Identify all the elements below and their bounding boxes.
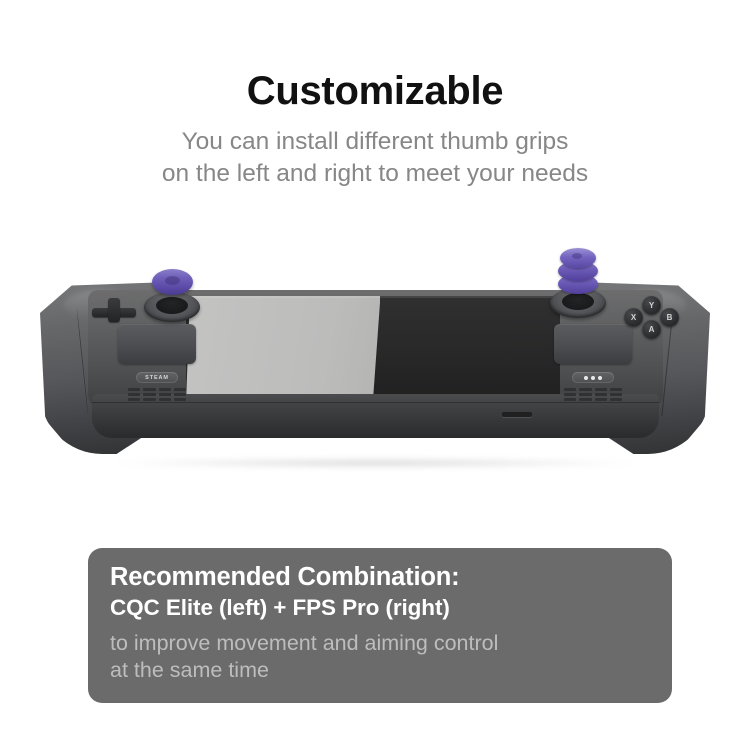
- menu-button[interactable]: [572, 372, 614, 383]
- grille-hole: [564, 388, 576, 391]
- button-y[interactable]: Y: [642, 296, 661, 315]
- dpad-vertical-arm: [108, 298, 120, 322]
- face-button-cluster: Y X B A: [624, 296, 682, 340]
- right-trackpad[interactable]: [554, 324, 632, 364]
- menu-dot-icon: [584, 376, 588, 380]
- steam-deck-device: STEAM: [40, 246, 710, 476]
- device-drop-shadow: [110, 458, 640, 468]
- page-title: Customizable: [0, 70, 750, 112]
- grille-hole: [595, 398, 607, 401]
- microsd-slot: [502, 412, 532, 417]
- recommendation-note-line-1: to improve movement and aiming control: [110, 630, 652, 657]
- recommendation-note: to improve movement and aiming control a…: [110, 630, 652, 684]
- grille-hole: [159, 393, 171, 396]
- grille-hole: [595, 393, 607, 396]
- steam-button[interactable]: STEAM: [136, 372, 178, 383]
- grille-hole: [159, 388, 171, 391]
- page-subtitle: You can install different thumb grips on…: [0, 126, 750, 191]
- grille-hole: [128, 393, 140, 396]
- grille-hole: [174, 398, 186, 401]
- grille-hole: [610, 398, 622, 401]
- subtitle-line-2: on the left and right to meet your needs: [0, 158, 750, 190]
- left-trackpad[interactable]: [118, 324, 196, 364]
- grille-hole: [128, 398, 140, 401]
- grille-hole: [579, 388, 591, 391]
- grille-hole: [610, 388, 622, 391]
- grille-hole: [143, 393, 155, 396]
- button-a[interactable]: A: [642, 320, 661, 339]
- recommendation-combo: CQC Elite (left) + FPS Pro (right): [110, 594, 652, 621]
- left-thumbstick[interactable]: [144, 292, 200, 322]
- button-b[interactable]: B: [660, 308, 679, 327]
- grille-hole: [579, 393, 591, 396]
- grille-hole: [564, 398, 576, 401]
- grille-hole: [143, 388, 155, 391]
- screen-dark-area: [366, 296, 560, 404]
- button-x[interactable]: X: [624, 308, 643, 327]
- device-image: STEAM: [0, 228, 750, 488]
- grille-hole: [174, 388, 186, 391]
- dpad[interactable]: [92, 298, 136, 324]
- screen-bezel-highlight: [186, 296, 560, 298]
- subtitle-line-1: You can install different thumb grips: [0, 126, 750, 158]
- grille-hole: [579, 398, 591, 401]
- menu-dot-icon: [598, 376, 602, 380]
- left-speaker-grille: [128, 388, 186, 406]
- grille-hole: [564, 393, 576, 396]
- right-speaker-grille: [564, 388, 622, 406]
- menu-dot-icon: [591, 376, 595, 380]
- grille-hole: [595, 388, 607, 391]
- fps-grip-top-dimple: [572, 253, 582, 259]
- grille-hole: [143, 398, 155, 401]
- right-thumb-grip-fps-pro: [558, 248, 598, 295]
- header-block: Customizable You can install different t…: [0, 70, 750, 191]
- recommendation-note-line-2: at the same time: [110, 657, 652, 684]
- grille-hole: [128, 388, 140, 391]
- grille-hole: [174, 393, 186, 396]
- steam-button-label: STEAM: [145, 375, 169, 381]
- recommendation-panel: Recommended Combination: CQC Elite (left…: [88, 548, 672, 703]
- grille-hole: [610, 393, 622, 396]
- left-thumb-grip-cqc-elite: [152, 269, 193, 295]
- grille-hole: [159, 398, 171, 401]
- recommendation-title: Recommended Combination:: [110, 562, 652, 592]
- screen-glare: [186, 296, 380, 404]
- device-screen: [186, 296, 560, 404]
